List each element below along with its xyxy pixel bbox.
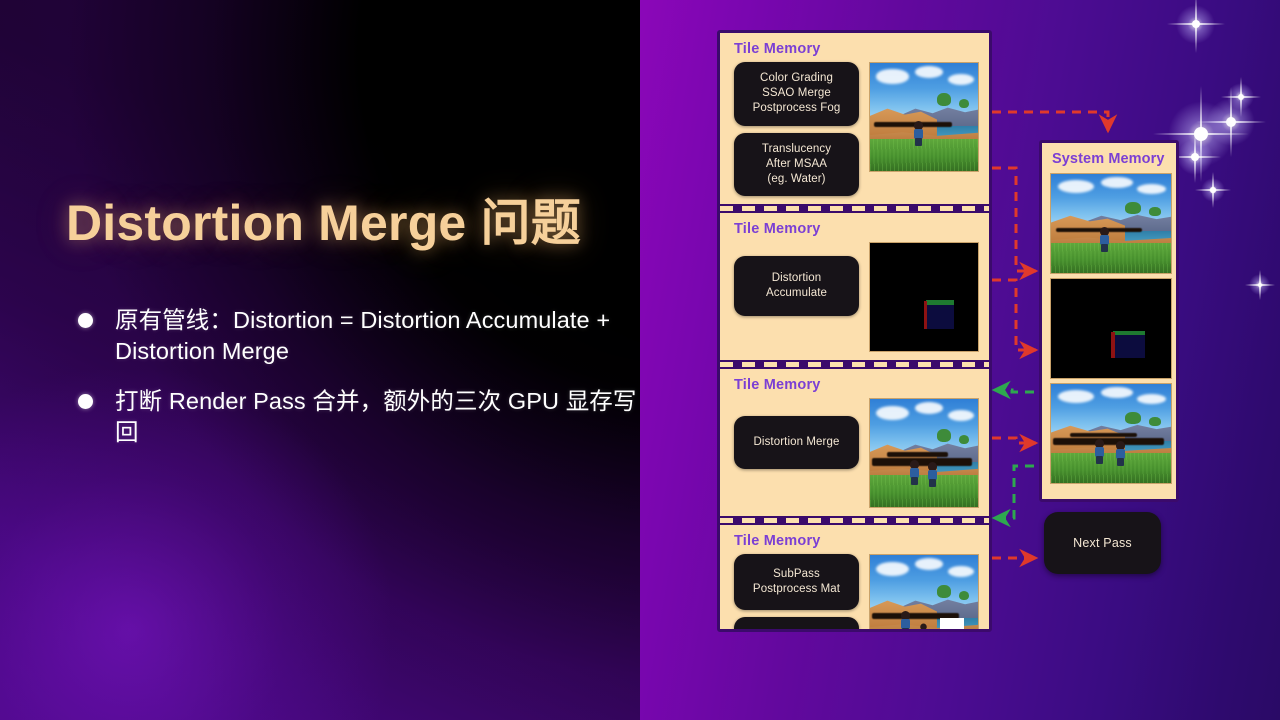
pass-line: After MSAA xyxy=(740,157,853,172)
pass-line: Translucency xyxy=(740,142,853,157)
sparkle-star-icon xyxy=(1167,0,1224,53)
bullet-text: 原有管线：Distortion = Distortion Accumulate … xyxy=(115,305,640,368)
tile-memory-section-2: Tile Memory Distortion Accumulate xyxy=(720,213,989,360)
slide-root: Distortion Merge 问题 原有管线：Distortion = Di… xyxy=(0,0,1280,720)
tile-memory-label: Tile Memory xyxy=(734,377,979,393)
system-memory-box: System Memory xyxy=(1039,140,1179,502)
tile-section-divider xyxy=(720,360,989,369)
page-title: Distortion Merge 问题 xyxy=(66,196,636,250)
pass-line: Distortion Merge xyxy=(740,435,853,450)
bullet-text: 打断 Render Pass 合并，额外的三次 GPU 显存写回 xyxy=(115,386,640,449)
thumbnail-distortion-buffer xyxy=(869,242,979,352)
pass-box: SubPass Postprocess Mat xyxy=(734,554,859,610)
thumbnail-game-scene-merged xyxy=(869,398,979,508)
pass-line: SubPass xyxy=(740,567,853,582)
next-pass-box: Next Pass xyxy=(1044,512,1161,574)
tile-memory-stack: Tile Memory Color Grading SSAO Merge Pos… xyxy=(717,30,992,632)
pass-line: Color Grading xyxy=(740,71,853,86)
tile-memory-label: Tile Memory xyxy=(734,533,979,549)
pass-line: Postprocess Fog xyxy=(740,101,853,116)
pass-line: Distortion xyxy=(740,271,853,286)
right-diagram-panel: Tile Memory Color Grading SSAO Merge Pos… xyxy=(640,0,1280,720)
left-content-panel: Distortion Merge 问题 原有管线：Distortion = Di… xyxy=(0,0,640,720)
thumbnail-game-scene xyxy=(869,62,979,172)
bullet-list: 原有管线：Distortion = Distortion Accumulate … xyxy=(78,305,640,466)
pass-line: Separate xyxy=(740,630,853,632)
tile-section-divider xyxy=(720,516,989,525)
list-item: 打断 Render Pass 合并，额外的三次 GPU 显存写回 xyxy=(78,386,640,449)
sparkle-star-icon xyxy=(1245,270,1276,301)
sparkle-star-icon xyxy=(1195,172,1230,207)
bullet-dot-icon xyxy=(78,394,93,409)
pass-line: Accumulate xyxy=(740,286,853,301)
thumbnail-system-scene-1 xyxy=(1050,173,1172,274)
pass-box: Distortion Accumulate xyxy=(734,256,859,316)
pass-line: (eg. Water) xyxy=(740,172,853,187)
sparkle-star-icon xyxy=(1196,87,1266,157)
bullet-dot-icon xyxy=(78,313,93,328)
tile-memory-section-3: Tile Memory Distortion Merge xyxy=(720,369,989,516)
tile-memory-section-4: Tile Memory SubPass Postprocess Mat Sepa… xyxy=(720,525,989,632)
thumbnail-game-scene-subpass xyxy=(869,554,979,632)
pass-box: Separate Translucency xyxy=(734,617,859,632)
thumbnail-system-scene-2 xyxy=(1050,383,1172,484)
tile-section-divider xyxy=(720,204,989,213)
pass-box: Color Grading SSAO Merge Postprocess Fog xyxy=(734,62,859,126)
tile-memory-label: Tile Memory xyxy=(734,221,979,237)
tile-memory-section-1: Tile Memory Color Grading SSAO Merge Pos… xyxy=(720,33,989,204)
tile-memory-label: Tile Memory xyxy=(734,41,979,57)
system-memory-label: System Memory xyxy=(1052,151,1168,167)
thumbnail-system-distortion xyxy=(1050,278,1172,379)
pass-box: Translucency After MSAA (eg. Water) xyxy=(734,133,859,197)
list-item: 原有管线：Distortion = Distortion Accumulate … xyxy=(78,305,640,368)
sparkle-star-icon xyxy=(1221,77,1261,117)
pass-line: SSAO Merge xyxy=(740,86,853,101)
pass-line: Postprocess Mat xyxy=(740,582,853,597)
pass-box: Distortion Merge xyxy=(734,416,859,469)
